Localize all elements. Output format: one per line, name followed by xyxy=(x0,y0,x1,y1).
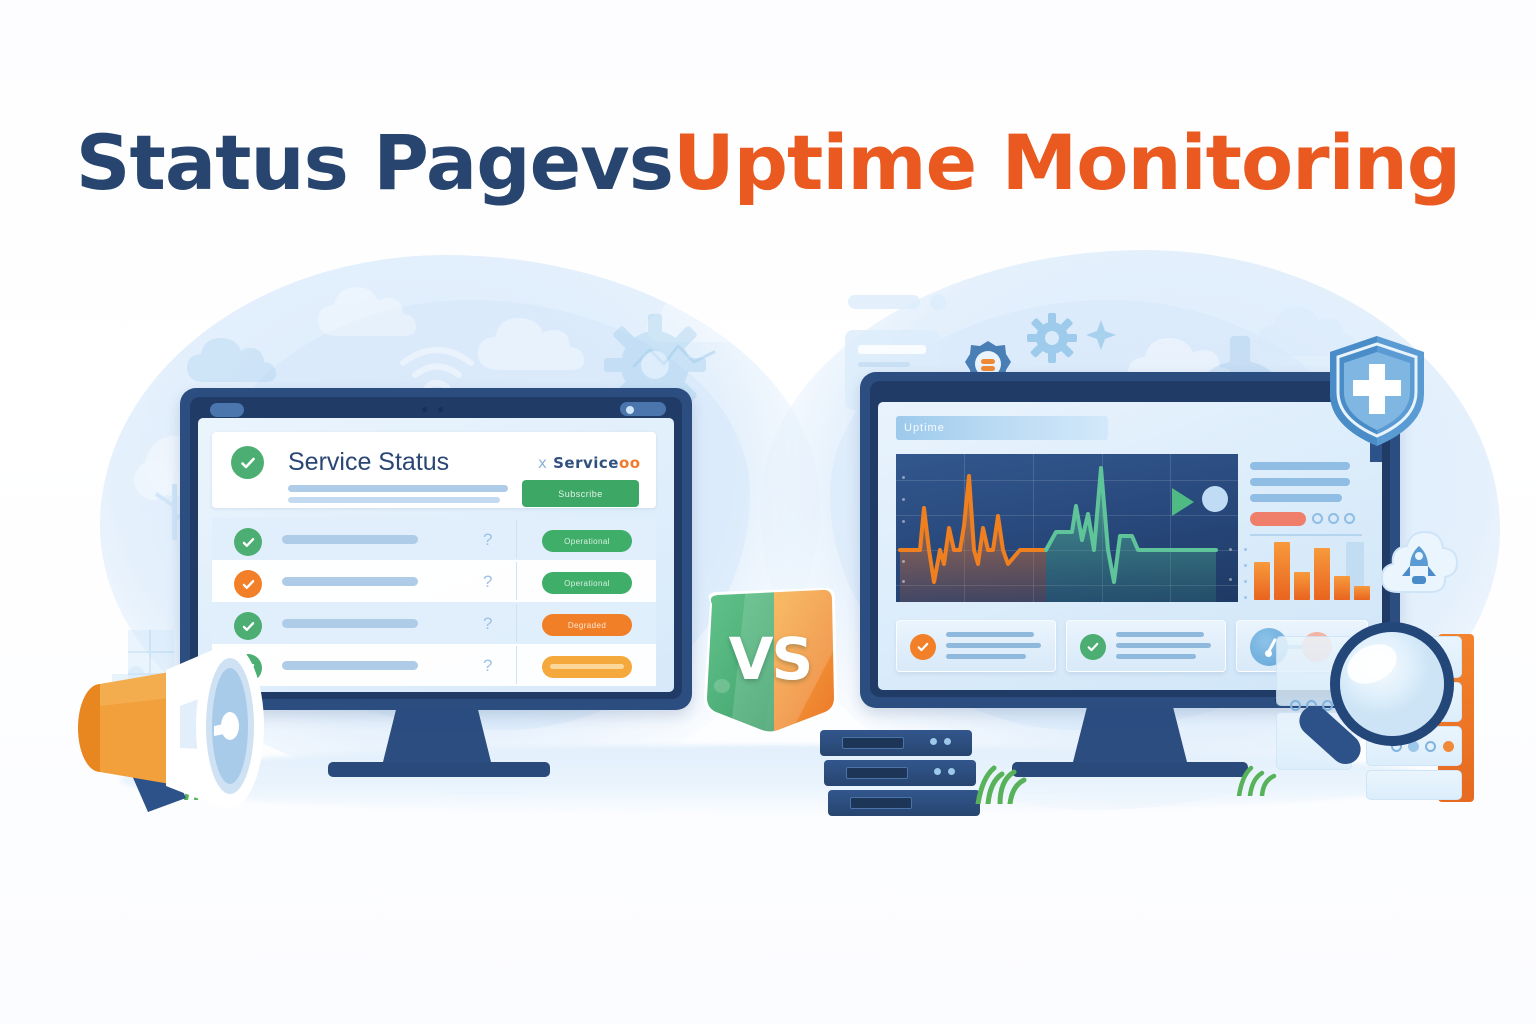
server-led xyxy=(934,768,941,775)
axis-tick xyxy=(902,476,905,479)
axis-tick xyxy=(902,498,905,501)
vs-label: VS xyxy=(686,586,854,738)
service-brand-wordmark: x Serviceoo xyxy=(538,454,641,472)
server-led xyxy=(930,738,937,745)
row-value-placeholder: ? xyxy=(483,530,492,550)
status-badge: Operational xyxy=(542,572,632,594)
widget-line xyxy=(1116,654,1196,659)
bar-chart-bar xyxy=(1354,586,1370,600)
play-triangle-icon xyxy=(1172,488,1194,516)
sparkle-icon xyxy=(1084,318,1118,357)
axis-tick xyxy=(1244,548,1247,551)
status-badge: Operational xyxy=(542,530,632,552)
gauge-hub xyxy=(1265,650,1272,657)
bar-chart-bar xyxy=(1254,562,1270,600)
widget-check-icon xyxy=(1080,634,1106,660)
row-divider xyxy=(516,562,517,600)
monitor-stand-base xyxy=(328,762,550,777)
header-check-icon xyxy=(231,446,264,479)
widget-line xyxy=(946,643,1041,648)
axis-tick xyxy=(1229,578,1232,581)
title-part-uptime-monitoring: Uptime Monitoring xyxy=(673,118,1460,207)
header-skeleton-line xyxy=(288,497,500,503)
server-stack xyxy=(820,730,980,822)
bar-chart-bar xyxy=(1294,572,1310,600)
widget-line xyxy=(1116,632,1204,637)
widget-line xyxy=(946,654,1026,659)
grass-tuft xyxy=(970,760,1030,809)
sidebar-skeleton-line xyxy=(1250,494,1342,502)
rocket-icon xyxy=(1376,524,1462,608)
bar-chart-bar xyxy=(1334,576,1350,600)
row-divider xyxy=(516,520,517,558)
service-status-title: Service Status xyxy=(288,448,449,477)
axis-tick xyxy=(902,520,905,523)
gear-icon xyxy=(1026,312,1078,369)
row-divider xyxy=(516,604,517,642)
axis-tick xyxy=(902,580,905,583)
brand-suffix: oo xyxy=(619,454,641,472)
header-skeleton-line xyxy=(288,485,508,492)
address-bar[interactable]: Uptime xyxy=(896,416,1108,440)
row-label-skeleton xyxy=(282,577,418,586)
server-unit xyxy=(824,760,976,786)
status-circle-icon xyxy=(1312,513,1323,524)
row-check-icon xyxy=(234,570,262,598)
widget-line xyxy=(1116,643,1211,648)
server-slot xyxy=(850,797,912,809)
row-label-skeleton xyxy=(282,535,418,544)
webcam-lens xyxy=(626,406,634,414)
bar-chart-bar xyxy=(1274,542,1290,600)
server-led xyxy=(948,768,955,775)
server-unit xyxy=(828,790,980,816)
monitor-stand-base xyxy=(1012,762,1248,777)
axis-tick xyxy=(1244,564,1247,567)
axis-tick xyxy=(1244,596,1247,599)
axis-tick xyxy=(902,560,905,563)
document-line xyxy=(858,362,910,367)
response-time-chart xyxy=(896,454,1238,602)
widget-line xyxy=(946,632,1034,637)
page-title: Status Page vs Uptime Monitoring xyxy=(0,118,1536,207)
axis-tick xyxy=(1229,548,1232,551)
monitor-stand-neck xyxy=(382,704,492,766)
status-badge-fill xyxy=(550,664,624,669)
dot-decoration xyxy=(930,294,946,310)
vs-badge: VS xyxy=(686,586,854,738)
status-circle-icon xyxy=(1344,513,1355,524)
row-check-icon xyxy=(234,528,262,556)
bezel-indicator-dot xyxy=(422,407,427,412)
chart-marker-dot xyxy=(1202,486,1228,512)
alert-pill xyxy=(1250,512,1306,526)
bezel-indicator-dot xyxy=(438,407,443,412)
title-part-vs: vs xyxy=(580,118,673,207)
document-line xyxy=(858,345,926,354)
grass-tuft xyxy=(1232,762,1282,801)
sidebar-skeleton-line xyxy=(1250,462,1350,470)
magnifier-icon xyxy=(1288,612,1488,802)
status-circle-icon xyxy=(1328,513,1339,524)
webcam xyxy=(210,403,244,417)
status-badge xyxy=(542,656,632,678)
sidebar-divider xyxy=(1250,534,1362,536)
cloud-icon xyxy=(470,310,600,391)
server-slot xyxy=(842,737,904,749)
subscribe-button[interactable]: Subscribe xyxy=(522,480,639,507)
sidebar-skeleton-line xyxy=(1250,478,1350,486)
pill-decoration xyxy=(848,295,920,309)
status-badge: Degraded xyxy=(542,614,632,636)
bar-chart-bar xyxy=(1314,548,1330,600)
widget-check-icon xyxy=(910,634,936,660)
row-value-placeholder: ? xyxy=(483,572,492,592)
row-value-placeholder: ? xyxy=(483,656,492,676)
row-value-placeholder: ? xyxy=(483,614,492,634)
shield-health-icon xyxy=(1322,332,1432,462)
brand-label: Service xyxy=(553,454,619,472)
monitor-stand-neck xyxy=(1072,702,1188,766)
server-led xyxy=(944,738,951,745)
cloud-icon xyxy=(310,280,430,355)
chart-series-svg xyxy=(896,454,1238,602)
megaphone-icon xyxy=(62,620,342,820)
server-slot xyxy=(846,767,908,779)
row-divider xyxy=(516,646,517,684)
illustration-canvas: Status Page vs Uptime Monitoring Service… xyxy=(0,0,1536,1024)
axis-tick xyxy=(1244,580,1247,583)
title-part-status-page: Status Page xyxy=(76,118,580,207)
